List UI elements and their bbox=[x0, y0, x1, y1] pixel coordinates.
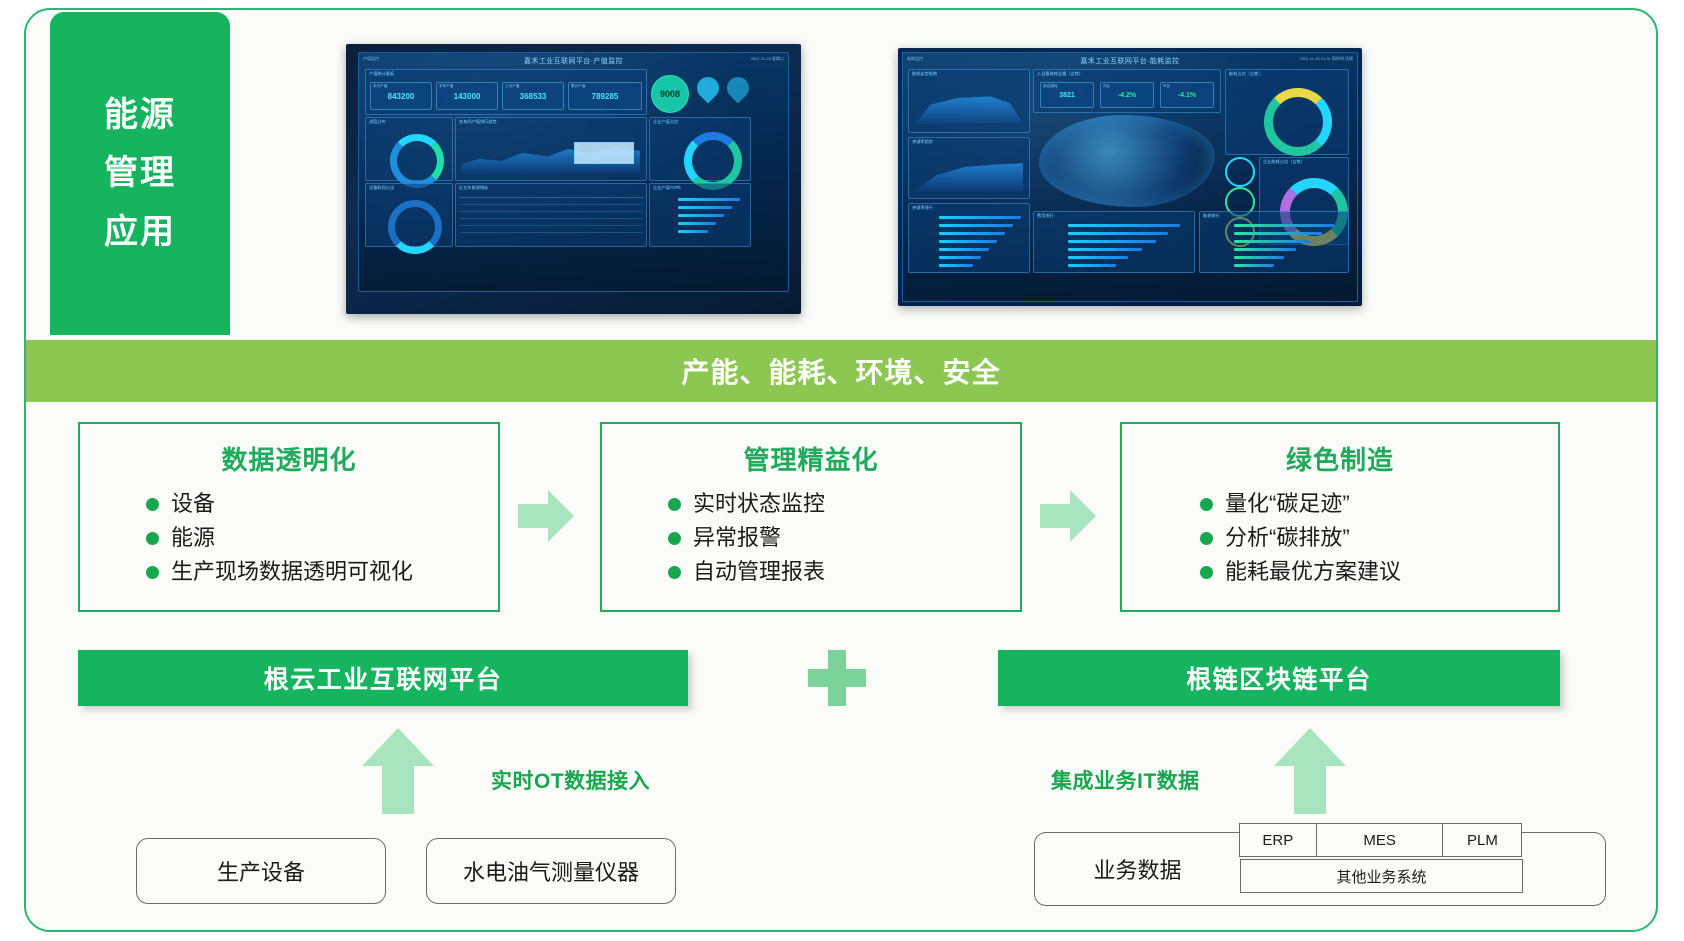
production-dashboard-screen: 产值监控 嘉禾工业互联网平台·产值监控 2021-11-25 星期二 产值统计看… bbox=[358, 52, 789, 292]
platform-right-label: 根链区块链平台 bbox=[1186, 660, 1372, 696]
dash-b-bar bbox=[1068, 248, 1142, 251]
card-lean-management[interactable]: 管理精益化 实时状态监控 异常报警 自动管理报表 bbox=[600, 422, 1022, 612]
card-1-title: 数据透明化 bbox=[80, 440, 498, 477]
business-data-label: 业务数据 bbox=[1035, 833, 1240, 905]
business-system-erp[interactable]: ERP bbox=[1239, 823, 1317, 857]
energy-dashboard-photo: 能耗监控 嘉禾工业互联网平台·能耗监控 2021-11-25 12:31 邱钟明… bbox=[898, 48, 1362, 306]
dash-b-gauge-1 bbox=[1225, 157, 1255, 187]
dash-b-kpi-0: 综合能耗 3821 bbox=[1040, 82, 1094, 108]
dash-a-donut-progress bbox=[390, 134, 444, 188]
dash-b-panel-rate-title: 关键率趋势 bbox=[912, 139, 933, 145]
dash-b-area-1 bbox=[915, 88, 1023, 126]
dash-b-panel-energy-rank-title: 能耗排行 bbox=[1203, 213, 1220, 219]
dash-b-panel-total: 入设备能耗总量（吉焦） 综合能耗 3821 同比 -4.2% 环比 -4.1% bbox=[1033, 69, 1221, 113]
dash-b-panel-total-title: 入设备能耗总量（吉焦） bbox=[1037, 71, 1083, 77]
bullet-dot-icon bbox=[146, 498, 159, 511]
dash-b-area-2 bbox=[915, 154, 1023, 192]
dash-a-kpi-0: 本月产值 843200 bbox=[370, 82, 432, 110]
dash-a-panel-trend-title: 各车间产值排行趋势 bbox=[459, 119, 497, 125]
dash-a-table-head bbox=[459, 193, 643, 198]
card-1-bullet-1: 能源 bbox=[171, 521, 215, 555]
dash-a-table-row bbox=[459, 235, 643, 239]
dash-b-bar bbox=[1234, 248, 1296, 251]
card-3-bullet-1: 分析“碳排放” bbox=[1225, 521, 1350, 555]
business-system-mes[interactable]: MES bbox=[1316, 823, 1444, 857]
dash-a-panel-share: 企业产值占比 bbox=[649, 117, 751, 181]
dash-b-panel-rate-rank-title: 关键率排行 bbox=[912, 205, 933, 211]
dash-a-kpi-3-value: 789285 bbox=[592, 92, 619, 101]
flow-label-it: 集成业务IT数据 bbox=[1051, 765, 1200, 795]
dash-b-panel-energy-rank: 能耗排行 bbox=[1199, 211, 1349, 273]
dash-b-panel-share-title: 能耗占比（吉焦） bbox=[1229, 71, 1263, 77]
dash-b-panel-share: 能耗占比（吉焦） bbox=[1225, 69, 1349, 155]
tag-line-2: 管理 bbox=[104, 144, 176, 202]
dash-b-bar bbox=[1068, 224, 1180, 227]
list-item: 实时状态监控 bbox=[668, 487, 1020, 521]
dash-a-kpi-online-value: 9008 bbox=[660, 89, 680, 99]
card-2-bullets: 实时状态监控 异常报警 自动管理报表 bbox=[602, 487, 1020, 589]
dash-b-panel-cost-rank-title: 费用排行 bbox=[1037, 213, 1054, 219]
dash-a-bar bbox=[678, 198, 740, 201]
dash-b-bar bbox=[939, 240, 997, 243]
dash-a-kpi-1-value: 143000 bbox=[454, 92, 481, 101]
dash-a-kpi-3-label: 累计产值 bbox=[571, 84, 585, 89]
dash-b-bar bbox=[1068, 264, 1116, 267]
card-2-title: 管理精益化 bbox=[602, 440, 1020, 477]
dash-b-kpi-1: 同比 -4.2% bbox=[1100, 82, 1154, 108]
dash-b-bar bbox=[939, 232, 1005, 235]
dash-b-bar bbox=[939, 264, 973, 267]
dash-b-map-blob bbox=[1039, 115, 1215, 207]
flow-arrow-up-it bbox=[1274, 728, 1346, 814]
source-box-production-equipment[interactable]: 生产设备 bbox=[136, 838, 386, 904]
production-dashboard-photo: 产值监控 嘉禾工业互联网平台·产值监控 2021-11-25 星期二 产值统计看… bbox=[346, 44, 801, 314]
left-category-tag: 能源 管理 应用 bbox=[50, 12, 230, 335]
dash-a-kpi-online: 9008 bbox=[651, 75, 689, 113]
plus-sign-icon bbox=[808, 650, 866, 706]
bullet-dot-icon bbox=[668, 498, 681, 511]
dash-b-kpi-0-label: 综合能耗 bbox=[1043, 84, 1057, 89]
dash-a-kpi-2-label: 上月产值 bbox=[505, 84, 519, 89]
dash-a-bar bbox=[678, 230, 708, 233]
dash-a-tooltip bbox=[574, 142, 634, 164]
business-systems-row: ERP MES PLM bbox=[1240, 823, 1522, 857]
flow-arrow-right-1 bbox=[518, 490, 574, 542]
dash-b-bar bbox=[1234, 240, 1310, 243]
dash-b-bar bbox=[1068, 256, 1128, 259]
card-1-bullet-0: 设备 bbox=[171, 487, 215, 521]
dash-b-bar bbox=[939, 224, 1013, 227]
dash-a-panel-progress-title: 进度分布 bbox=[369, 119, 386, 125]
list-item: 设备 bbox=[146, 487, 498, 521]
dash-a-panel-kpi-title: 产值统计看板 bbox=[369, 71, 394, 77]
energy-dashboard-screen: 能耗监控 嘉禾工业互联网平台·能耗监控 2021-11-25 12:31 邱钟明… bbox=[902, 52, 1358, 302]
business-system-plm[interactable]: PLM bbox=[1442, 823, 1522, 857]
dash-a-table-row bbox=[459, 207, 643, 212]
dash-a-bar bbox=[678, 206, 732, 209]
dash-b-panel-trend: 能耗走势指数 bbox=[908, 69, 1030, 133]
card-2-bullet-0: 实时状态监控 bbox=[693, 487, 825, 521]
dash-a-kpi-0-label: 本月产值 bbox=[373, 84, 387, 89]
card-3-bullet-2: 能耗最优方案建议 bbox=[1225, 555, 1401, 589]
dash-b-bar bbox=[1068, 240, 1156, 243]
bullet-dot-icon bbox=[146, 566, 159, 579]
dash-b-kpi-2-label: 环比 bbox=[1163, 84, 1170, 89]
list-item: 能源 bbox=[146, 521, 498, 555]
dash-b-bar bbox=[1234, 256, 1284, 259]
card-3-bullet-0: 量化“碳足迹” bbox=[1225, 487, 1350, 521]
business-system-other[interactable]: 其他业务系统 bbox=[1240, 859, 1523, 893]
dash-a-kpi-1-label: 本年产值 bbox=[439, 84, 453, 89]
dash-b-bar bbox=[939, 216, 1021, 219]
diagram-frame: 能源 管理 应用 产值监控 嘉禾工业互联网平台·产值监控 2021-11-25 … bbox=[24, 8, 1658, 932]
platform-left-label: 根云工业互联网平台 bbox=[264, 660, 503, 696]
dash-b-panel-rate-rank: 关键率排行 bbox=[908, 203, 1030, 273]
dash-a-table-row bbox=[459, 214, 643, 219]
dash-b-kpi-2-value: -4.1% bbox=[1178, 92, 1196, 99]
dash-a-donut-devices bbox=[388, 200, 442, 254]
card-3-bullets: 量化“碳足迹” 分析“碳排放” 能耗最优方案建议 bbox=[1122, 487, 1558, 589]
dash-a-panel-top5: 企业产值TOP5 bbox=[649, 183, 751, 247]
dash-b-bar bbox=[1234, 224, 1334, 227]
card-2-bullet-1: 异常报警 bbox=[693, 521, 781, 555]
platform-bar-genyun[interactable]: 根云工业互联网平台 bbox=[78, 650, 688, 706]
list-item: 能耗最优方案建议 bbox=[1200, 555, 1558, 589]
card-1-bullets: 设备 能源 生产现场数据透明可视化 bbox=[80, 487, 498, 589]
dash-a-kpi-0-value: 843200 bbox=[388, 92, 415, 101]
dash-b-bar bbox=[1234, 232, 1322, 235]
dash-b-kpi-1-label: 同比 bbox=[1103, 84, 1110, 89]
tag-line-3: 应用 bbox=[104, 203, 176, 261]
dash-b-panel-cost-rank: 费用排行 bbox=[1033, 211, 1195, 273]
bullet-dot-icon bbox=[668, 566, 681, 579]
bullet-dot-icon bbox=[1200, 532, 1213, 545]
dashboard-photos: 产值监控 嘉禾工业互联网平台·产值监控 2021-11-25 星期二 产值统计看… bbox=[346, 40, 1376, 315]
banner-text: 产能、能耗、环境、安全 bbox=[681, 351, 1000, 391]
source-box-2-label: 水电油气测量仪器 bbox=[463, 855, 639, 887]
flow-label-ot: 实时OT数据接入 bbox=[491, 765, 650, 795]
dash-b-panel-company-share-title: 企业能耗占比（吉焦） bbox=[1263, 159, 1305, 165]
dash-a-panel-kpi: 产值统计看板 本月产值 843200 本年产值 143000 上月产值 3685… bbox=[365, 69, 647, 115]
tag-line-1: 能源 bbox=[104, 86, 176, 144]
card-1-bullet-2: 生产现场数据透明可视化 bbox=[171, 555, 413, 589]
dash-b-panel-trend-title: 能耗走势指数 bbox=[912, 71, 937, 77]
dash-a-panel-devices: 设备联网占比 bbox=[365, 183, 453, 247]
dash-b-kpi-1-value: -4.2% bbox=[1118, 92, 1136, 99]
bullet-dot-icon bbox=[1200, 566, 1213, 579]
dash-a-bar bbox=[678, 214, 724, 217]
dash-a-bar bbox=[678, 222, 716, 225]
dash-a-panel-progress: 进度分布 bbox=[365, 117, 453, 181]
list-item: 量化“碳足迹” bbox=[1200, 487, 1558, 521]
dash-a-panel-table: 近五年能源指标 bbox=[455, 183, 647, 247]
card-data-transparency[interactable]: 数据透明化 设备 能源 生产现场数据透明可视化 bbox=[78, 422, 500, 612]
dash-a-donut-share bbox=[684, 132, 742, 190]
dash-a-table-row bbox=[459, 200, 643, 205]
dash-a-kpi-1: 本年产值 143000 bbox=[436, 82, 498, 110]
dash-b-bar bbox=[1068, 232, 1168, 235]
dash-b-bar bbox=[1234, 264, 1274, 267]
flow-arrow-right-2 bbox=[1040, 490, 1096, 542]
dash-a-title: 嘉禾工业互联网平台·产值监控 bbox=[359, 56, 788, 66]
dash-a-kpi-2-value: 368533 bbox=[520, 92, 547, 101]
source-box-meters[interactable]: 水电油气测量仪器 bbox=[426, 838, 676, 904]
dash-b-donut-share bbox=[1264, 88, 1332, 156]
dash-a-panel-share-title: 企业产值占比 bbox=[653, 119, 678, 125]
list-item: 分析“碳排放” bbox=[1200, 521, 1558, 555]
top-row: 能源 管理 应用 产值监控 嘉禾工业互联网平台·产值监控 2021-11-25 … bbox=[26, 10, 1656, 340]
dash-a-panel-top5-title: 企业产值TOP5 bbox=[653, 185, 681, 191]
dash-a-kpi-3: 累计产值 789285 bbox=[568, 82, 642, 110]
dash-b-title: 嘉禾工业互联网平台·能耗监控 bbox=[903, 56, 1357, 66]
value-cards: 数据透明化 设备 能源 生产现场数据透明可视化 管理精益化 实时状态监控 异常报… bbox=[26, 410, 1656, 620]
dash-b-bar bbox=[939, 256, 981, 259]
card-green-manufacturing[interactable]: 绿色制造 量化“碳足迹” 分析“碳排放” 能耗最优方案建议 bbox=[1120, 422, 1560, 612]
card-3-title: 绿色制造 bbox=[1122, 440, 1558, 477]
flow-arrow-up-ot bbox=[362, 728, 434, 814]
dash-a-meta-right: 2021-11-25 星期二 bbox=[751, 56, 784, 62]
business-data-group: 业务数据 ERP MES PLM 其他业务系统 bbox=[1034, 832, 1606, 906]
bullet-dot-icon bbox=[668, 532, 681, 545]
dash-b-meta-right: 2021-11-25 12:31 邱钟明 切换 bbox=[1299, 56, 1353, 62]
dash-a-panel-trend: 各车间产值排行趋势 bbox=[455, 117, 647, 181]
dash-b-kpi-0-value: 3821 bbox=[1059, 92, 1075, 99]
dash-a-table-row bbox=[459, 228, 643, 233]
dash-b-bar bbox=[939, 248, 989, 251]
dash-a-kpi-2: 上月产值 368533 bbox=[502, 82, 564, 110]
card-2-bullet-2: 自动管理报表 bbox=[693, 555, 825, 589]
list-item: 异常报警 bbox=[668, 521, 1020, 555]
dash-b-panel-rate: 关键率趋势 bbox=[908, 137, 1030, 199]
capability-banner: 产能、能耗、环境、安全 bbox=[26, 340, 1656, 402]
list-item: 自动管理报表 bbox=[668, 555, 1020, 589]
source-box-1-label: 生产设备 bbox=[217, 855, 305, 887]
bullet-dot-icon bbox=[146, 532, 159, 545]
dash-a-panel-table-title: 近五年能源指标 bbox=[459, 185, 488, 191]
bullet-dot-icon bbox=[1200, 498, 1213, 511]
list-item: 生产现场数据透明可视化 bbox=[146, 555, 498, 589]
dash-b-kpi-2: 环比 -4.1% bbox=[1160, 82, 1214, 108]
dash-a-table-row bbox=[459, 221, 643, 226]
dash-a-panel-devices-title: 设备联网占比 bbox=[369, 185, 394, 191]
platform-bar-genlian[interactable]: 根链区块链平台 bbox=[998, 650, 1560, 706]
